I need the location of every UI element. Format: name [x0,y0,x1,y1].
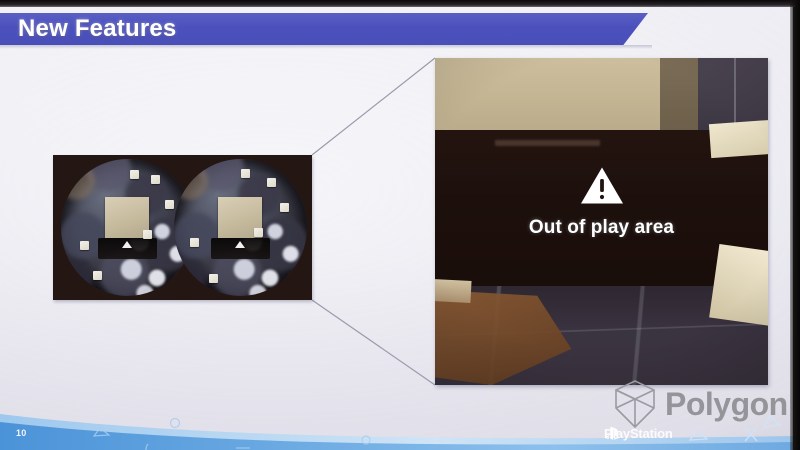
photo-edge-top [0,0,800,7]
lens-cube [80,241,89,250]
photo-edge-right [790,0,800,450]
page-number: 10 [16,428,27,438]
lens-cube [165,200,174,209]
lens-cube [130,170,139,179]
page-title: New Features [18,13,176,45]
lens-cube [254,228,263,237]
title-band-shadow [0,45,652,49]
playstation-wordmark: PlayStation [604,426,673,441]
lens-cube [267,178,276,187]
warning-triangle-icon [580,166,624,205]
lens-marker-icon [235,241,245,248]
lens-cube [151,175,160,184]
playstation-logo: PlayStation [604,426,673,441]
lens-cube [280,203,289,212]
lens-cube [143,230,152,239]
lens-cube [241,169,250,178]
presentation-slide-photo: New Features [0,0,800,450]
triangle-icon [764,416,780,427]
warning-overlay: Out of play area [435,166,768,266]
lens-marker-icon [122,241,132,248]
lens-cube [209,274,218,283]
warning-message: Out of play area [529,217,674,239]
lens-cube [93,271,102,280]
footer-wave-graphic [0,406,793,450]
lens-cube [190,238,199,247]
stereo-headset-view [53,155,312,300]
play-area-warning-photo: Out of play area [435,58,768,385]
vr-lens-right [174,159,307,296]
footer-wave: 10 PlayStation [0,406,793,450]
lens-box-object [105,197,149,238]
circle-icon [171,419,180,428]
